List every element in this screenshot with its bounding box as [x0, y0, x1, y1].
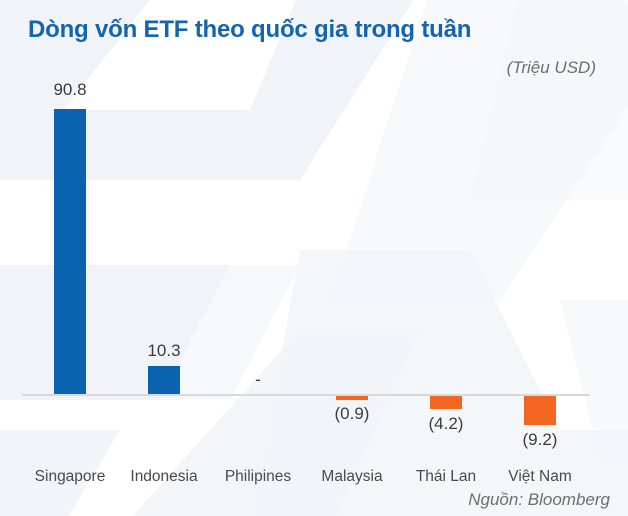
bar-group-philipines: - Philipines — [211, 0, 305, 516]
bar-singapore[interactable] — [54, 109, 86, 394]
category-label-philipines: Philipines — [225, 468, 291, 486]
etf-flow-bar-chart: Dòng vốn ETF theo quốc gia trong tuần (T… — [0, 0, 628, 516]
value-label-philipines: - — [255, 370, 261, 390]
value-label-thai-lan: (4.2) — [429, 414, 464, 434]
chart-title: Dòng vốn ETF theo quốc gia trong tuần — [28, 16, 471, 44]
zero-axis-line — [22, 394, 590, 396]
bar-group-thai-lan: (4.2) Thái Lan — [399, 0, 493, 516]
category-label-singapore: Singapore — [35, 468, 106, 486]
bar-group-singapore: 90.8 Singapore — [23, 0, 117, 516]
bar-viet-nam[interactable] — [524, 396, 556, 425]
bar-thai-lan[interactable] — [430, 396, 462, 409]
bar-indonesia[interactable] — [148, 366, 180, 394]
bar-group-indonesia: 10.3 Indonesia — [117, 0, 211, 516]
bar-group-malaysia: (0.9) Malaysia — [305, 0, 399, 516]
chart-source-note: Nguồn: Bloomberg — [468, 490, 610, 510]
category-label-viet-nam: Việt Nam — [508, 468, 571, 486]
chart-unit-note: (Triệu USD) — [507, 58, 596, 78]
category-label-malaysia: Malaysia — [321, 468, 382, 486]
value-label-singapore: 90.8 — [53, 80, 86, 100]
category-label-indonesia: Indonesia — [130, 468, 197, 486]
bar-malaysia[interactable] — [336, 396, 368, 400]
value-label-malaysia: (0.9) — [335, 404, 370, 424]
value-label-viet-nam: (9.2) — [523, 430, 558, 450]
category-label-thai-lan: Thái Lan — [416, 468, 476, 486]
value-label-indonesia: 10.3 — [147, 341, 180, 361]
